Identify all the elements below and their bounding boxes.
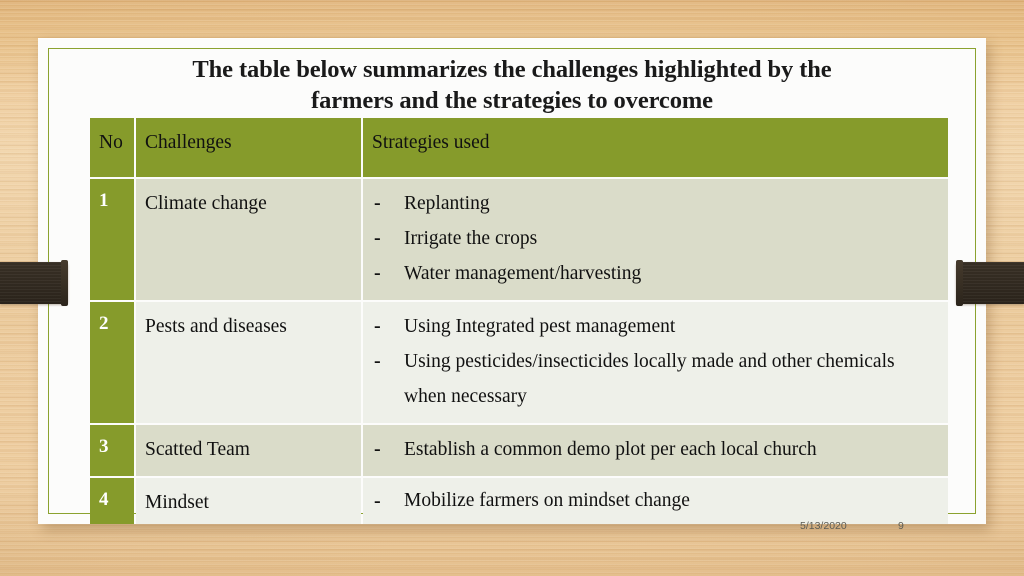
row-strategies: -Replanting -Irrigate the crops -Water m…	[363, 179, 948, 300]
challenges-table: No Challenges Strategies used 1 Climate …	[88, 116, 950, 526]
row-number: 1	[90, 179, 134, 300]
column-header-strategies: Strategies used	[363, 118, 948, 177]
list-item: -Irrigate the crops	[372, 221, 941, 256]
bullet-dash-icon: -	[374, 432, 381, 467]
bullet-dash-icon: -	[374, 344, 381, 379]
footer-page-number: 9	[898, 520, 904, 532]
table-header-row: No Challenges Strategies used	[90, 118, 948, 177]
table-body: 1 Climate change -Replanting -Irrigate t…	[90, 179, 948, 524]
strategy-text: Using pesticides/insecticides locally ma…	[404, 351, 895, 407]
row-strategies: -Using Integrated pest management -Using…	[363, 302, 948, 423]
table-row: 2 Pests and diseases -Using Integrated p…	[90, 302, 948, 423]
slide-title: The table below summarizes the challenge…	[98, 54, 926, 116]
footer-date: 5/13/2020	[800, 520, 847, 532]
clamp-band-left	[0, 262, 68, 304]
row-number: 4	[90, 478, 134, 524]
column-header-challenges: Challenges	[136, 118, 361, 177]
list-item: -Establish a common demo plot per each l…	[372, 432, 941, 467]
row-strategies: -Establish a common demo plot per each l…	[363, 425, 948, 476]
table-row: 1 Climate change -Replanting -Irrigate t…	[90, 179, 948, 300]
bullet-dash-icon: -	[374, 256, 381, 291]
bullet-dash-icon: -	[374, 186, 381, 221]
clamp-cap-right	[956, 260, 963, 306]
slide-card: The table below summarizes the challenge…	[38, 38, 986, 524]
slide-root: The table below summarizes the challenge…	[0, 0, 1024, 576]
row-challenge: Pests and diseases	[136, 302, 361, 423]
clamp-band-right	[956, 262, 1024, 304]
strategy-text: Mobilize farmers on mindset change	[404, 490, 690, 511]
table-row: 4 Mindset -Mobilize farmers on mindset c…	[90, 478, 948, 524]
strategy-list: -Establish a common demo plot per each l…	[372, 432, 941, 467]
strategy-list: -Replanting -Irrigate the crops -Water m…	[372, 186, 941, 291]
bullet-dash-icon: -	[374, 485, 381, 517]
row-challenge: Climate change	[136, 179, 361, 300]
slide-title-line-2: farmers and the strategies to overcome	[98, 85, 926, 116]
list-item: -Using pesticides/insecticides locally m…	[372, 344, 941, 414]
row-number: 2	[90, 302, 134, 423]
row-challenge: Mindset	[136, 478, 361, 524]
row-strategies: -Mobilize farmers on mindset change	[363, 478, 948, 524]
strategy-text: Establish a common demo plot per each lo…	[404, 439, 817, 460]
strategy-text: Water management/harvesting	[404, 263, 641, 284]
strategy-text: Using Integrated pest management	[404, 316, 675, 337]
list-item: -Water management/harvesting	[372, 256, 941, 291]
list-item: -Replanting	[372, 186, 941, 221]
strategy-list: -Using Integrated pest management -Using…	[372, 309, 941, 414]
slide-title-line-1: The table below summarizes the challenge…	[98, 54, 926, 85]
clamp-cap-left	[61, 260, 68, 306]
row-number: 3	[90, 425, 134, 476]
row-challenge: Scatted Team	[136, 425, 361, 476]
column-header-no: No	[90, 118, 134, 177]
bullet-dash-icon: -	[374, 221, 381, 256]
strategy-text: Replanting	[404, 193, 490, 214]
table-row: 3 Scatted Team -Establish a common demo …	[90, 425, 948, 476]
strategy-list: -Mobilize farmers on mindset change	[372, 485, 941, 517]
bullet-dash-icon: -	[374, 309, 381, 344]
list-item: -Mobilize farmers on mindset change	[372, 485, 941, 517]
list-item: -Using Integrated pest management	[372, 309, 941, 344]
strategy-text: Irrigate the crops	[404, 228, 537, 249]
table-header: No Challenges Strategies used	[90, 118, 948, 177]
